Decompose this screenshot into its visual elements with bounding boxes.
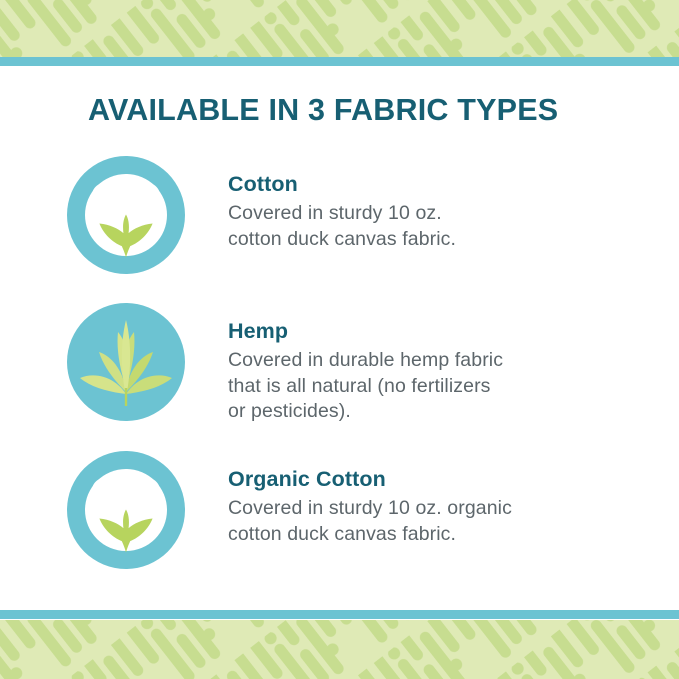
bottom-decorative-band <box>0 610 679 679</box>
feature-text-block: Cotton Covered in sturdy 10 oz. cotton d… <box>228 173 628 252</box>
infographic-page: AVAILABLE IN 3 FABRIC TYPES Cotton Cover… <box>0 0 679 679</box>
top-decorative-band <box>0 0 679 66</box>
list-item: Hemp Covered in durable hemp fabric that… <box>0 302 679 432</box>
feature-body-line: Covered in sturdy 10 oz. <box>228 201 628 227</box>
hemp-leaf-icon <box>66 302 186 422</box>
feature-body-line: cotton duck canvas fabric. <box>228 522 628 548</box>
feature-body: Covered in durable hemp fabric that is a… <box>228 348 628 426</box>
feature-body-line: or pesticides). <box>228 399 628 425</box>
cotton-boll-icon <box>66 450 186 570</box>
feature-text-block: Organic Cotton Covered in sturdy 10 oz. … <box>228 468 628 547</box>
top-pattern-fill <box>0 0 679 59</box>
feature-body: Covered in sturdy 10 oz. organic cotton … <box>228 496 628 548</box>
list-item: Organic Cotton Covered in sturdy 10 oz. … <box>0 450 679 580</box>
top-teal-rule <box>0 57 679 66</box>
bottom-pattern-fill <box>0 620 679 679</box>
feature-body: Covered in sturdy 10 oz. cotton duck can… <box>228 201 628 253</box>
feature-body-line: Covered in durable hemp fabric <box>228 348 628 374</box>
cotton-boll-icon <box>66 155 186 275</box>
feature-body-line: that is all natural (no fertilizers <box>228 374 628 400</box>
feature-body-line: cotton duck canvas fabric. <box>228 227 628 253</box>
page-title: AVAILABLE IN 3 FABRIC TYPES <box>88 93 558 128</box>
feature-text-block: Hemp Covered in durable hemp fabric that… <box>228 320 628 425</box>
feature-heading: Organic Cotton <box>228 468 628 492</box>
feature-heading: Cotton <box>228 173 628 197</box>
feature-body-line: Covered in sturdy 10 oz. organic <box>228 496 628 522</box>
feature-heading: Hemp <box>228 320 628 344</box>
bottom-teal-rule <box>0 610 679 619</box>
list-item: Cotton Covered in sturdy 10 oz. cotton d… <box>0 155 679 285</box>
